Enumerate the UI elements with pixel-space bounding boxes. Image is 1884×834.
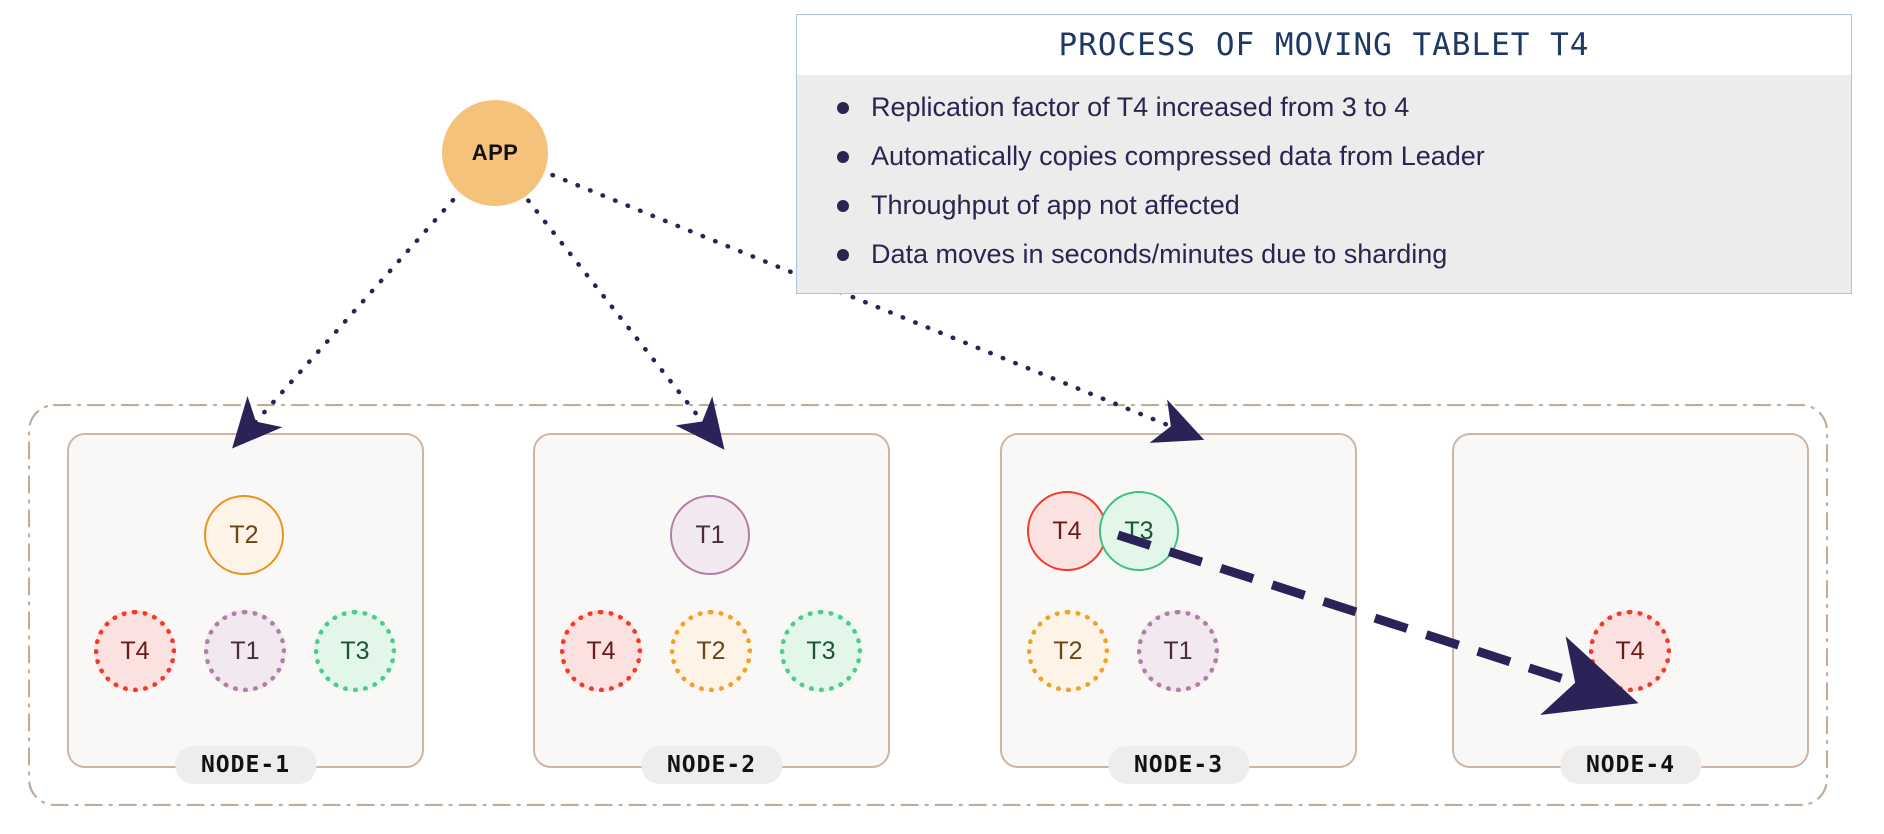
- info-panel-bullet-list: Replication factor of T4 increased from …: [797, 75, 1851, 293]
- tablet-t3-follower[interactable]: T3: [314, 610, 396, 692]
- node-box[interactable]: NODE-2 T4T2T3T1: [533, 433, 890, 768]
- tablet-t4-follower[interactable]: T4: [560, 610, 642, 692]
- node-box[interactable]: NODE-4 T4: [1452, 433, 1809, 768]
- info-bullet-text: Data moves in seconds/minutes due to sha…: [871, 239, 1447, 269]
- node-box[interactable]: NODE-1 T4T1T3T2: [67, 433, 424, 768]
- bullet-dot-icon: [837, 102, 849, 114]
- info-bullet-text: Automatically copies compressed data fro…: [871, 141, 1485, 171]
- tablet-label: T4: [1615, 637, 1644, 666]
- tablet-t4-follower[interactable]: T4: [94, 610, 176, 692]
- node-label: NODE-2: [641, 746, 782, 784]
- tablet-t1-follower[interactable]: T1: [204, 610, 286, 692]
- tablet-t1-follower[interactable]: T1: [1137, 610, 1219, 692]
- tablet-label: T4: [1052, 517, 1081, 546]
- tablet-t4-follower[interactable]: T4: [1589, 610, 1671, 692]
- tablet-label: T3: [1124, 517, 1153, 546]
- info-bullet-item: Replication factor of T4 increased from …: [797, 83, 1851, 132]
- edge-app-to-node-1: [253, 190, 462, 425]
- node-label: NODE-4: [1560, 746, 1701, 784]
- bullet-dot-icon: [837, 249, 849, 261]
- info-bullet-item: Throughput of app not affected: [797, 181, 1851, 230]
- tablet-t2-follower[interactable]: T2: [670, 610, 752, 692]
- tablet-t4-leader[interactable]: T4: [1027, 491, 1107, 571]
- bullet-dot-icon: [837, 200, 849, 212]
- info-panel-title: PROCESS OF MOVING TABLET T4: [797, 15, 1851, 75]
- tablet-label: T3: [340, 637, 369, 666]
- tablet-label: T4: [586, 637, 615, 666]
- node-label: NODE-1: [175, 746, 316, 784]
- app-node[interactable]: APP: [442, 100, 548, 206]
- tablet-label: T3: [806, 637, 835, 666]
- node-label: NODE-3: [1108, 746, 1249, 784]
- tablet-t3-follower[interactable]: T3: [780, 610, 862, 692]
- tablet-label: T1: [1163, 637, 1192, 666]
- diagram-canvas: NODE-1 T4T1T3T2 NODE-2 T4T2T3T1 NODE-3 T…: [0, 0, 1884, 834]
- info-panel: PROCESS OF MOVING TABLET T4 Replication …: [796, 14, 1852, 294]
- info-bullet-text: Throughput of app not affected: [871, 190, 1240, 220]
- tablet-label: T2: [696, 637, 725, 666]
- app-node-label: APP: [472, 140, 518, 166]
- tablet-label: T2: [1053, 637, 1082, 666]
- edge-app-to-node-2: [520, 190, 705, 425]
- tablet-label: T4: [120, 637, 149, 666]
- bullet-dot-icon: [837, 151, 849, 163]
- info-bullet-text: Replication factor of T4 increased from …: [871, 92, 1409, 122]
- tablet-label: T2: [229, 521, 258, 550]
- info-bullet-item: Automatically copies compressed data fro…: [797, 132, 1851, 181]
- tablet-label: T1: [695, 521, 724, 550]
- tablet-label: T1: [230, 637, 259, 666]
- tablet-t2-leader[interactable]: T2: [204, 495, 284, 575]
- info-bullet-item: Data moves in seconds/minutes due to sha…: [797, 230, 1851, 279]
- tablet-t1-leader[interactable]: T1: [670, 495, 750, 575]
- tablet-t3-leader[interactable]: T3: [1099, 491, 1179, 571]
- node-box[interactable]: NODE-3 T2T1T4T3: [1000, 433, 1357, 768]
- tablet-t2-follower[interactable]: T2: [1027, 610, 1109, 692]
